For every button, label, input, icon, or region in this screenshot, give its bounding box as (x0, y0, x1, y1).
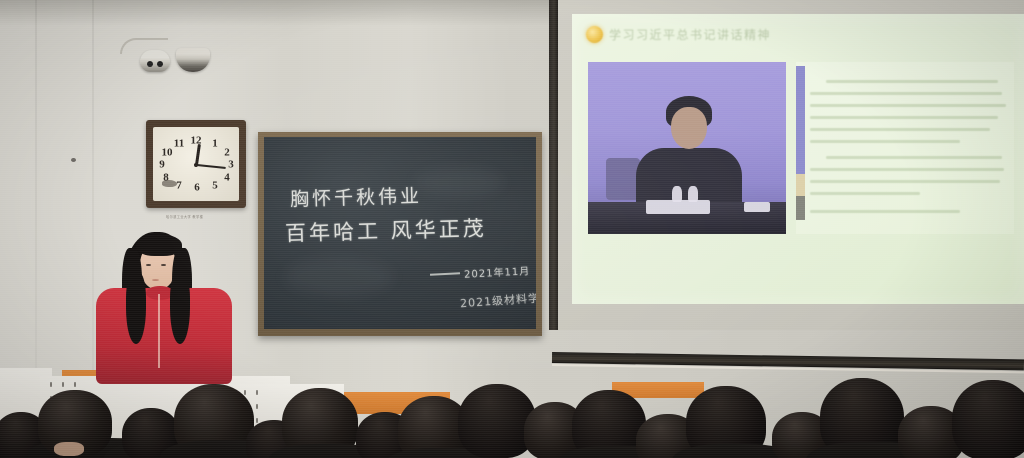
wall-mark (71, 158, 76, 162)
presenter-student (96, 232, 236, 382)
projected-slide: 学习习近平总书记讲话精神 (572, 14, 1024, 304)
presenter-hair-front-left (126, 272, 146, 344)
presenter-eye-left (146, 264, 151, 266)
clock-numeral: 3 (228, 160, 234, 171)
presenter-zipper (158, 294, 160, 368)
paragraph-line (810, 92, 1002, 95)
blackboard-line-1: 胸怀千秋伟业 (290, 181, 423, 211)
audience-head (952, 380, 1024, 458)
blackboard-surface: 胸怀千秋伟业 百年哈工 风华正茂 2021年11月 2021级材料学院 (264, 137, 536, 329)
dome-camera-ir-icon (140, 50, 170, 72)
panel-accent-tan (796, 174, 805, 196)
clock-center-pin (194, 163, 198, 167)
chalk-smudge (284, 257, 394, 297)
presenter-mouth (152, 279, 159, 281)
clock-numeral: 2 (224, 148, 230, 159)
presenter-hair-front-right (170, 272, 190, 344)
blackboard: 胸怀千秋伟业 百年哈工 风华正茂 2021年11月 2021级材料学院 (258, 132, 542, 336)
video-chair-back (606, 158, 640, 200)
dome-camera-icon (176, 48, 210, 72)
clock-caption: 哈尔滨工业大学 教学楼 (166, 214, 203, 219)
clock-brand-mark (162, 180, 177, 187)
paragraph-line (810, 104, 1006, 107)
blackboard-signature: 2021级材料学院 (460, 289, 536, 311)
blackboard-line-2: 百年哈工 风华正茂 (285, 212, 487, 247)
video-microphone (672, 186, 682, 202)
slide-title: 学习习近平总书记讲话精神 (609, 26, 771, 43)
camera-lens-left-icon (147, 61, 153, 67)
chalk-smudge (414, 167, 504, 197)
paragraph-line (826, 156, 1002, 159)
clock-numeral: 10 (162, 148, 173, 159)
paragraph-line (810, 168, 1004, 171)
paragraph-line (810, 180, 1000, 183)
clock-numeral: 9 (159, 160, 165, 171)
clock-numeral: 7 (176, 181, 182, 192)
panel-accent-blue (796, 66, 805, 174)
paragraph-line (810, 140, 960, 143)
security-camera-cluster (118, 36, 228, 76)
video-microphone (688, 186, 698, 202)
blackboard-dash (430, 272, 460, 275)
video-papers-right (744, 202, 770, 212)
paragraph-line (810, 128, 990, 131)
audience-seating (0, 368, 1024, 458)
panel-accent-grey (796, 196, 805, 220)
paragraph-line (826, 80, 998, 83)
paragraph-line (810, 210, 960, 213)
clock-hour-hand (195, 144, 200, 165)
lecture-hall-scene: 12 1 2 3 4 5 6 7 8 9 10 11 哈尔滨工业大学 教学楼 胸… (0, 0, 1024, 458)
clock-numeral: 1 (212, 139, 218, 150)
video-speaker-face (671, 107, 707, 149)
clock-numeral: 5 (212, 181, 218, 192)
paragraph-line (810, 116, 998, 119)
slide-body (572, 54, 1024, 304)
wall-post-divider (549, 0, 558, 330)
clock-numeral: 11 (174, 139, 184, 150)
camera-lens-right-icon (157, 61, 163, 67)
clock-face: 12 1 2 3 4 5 6 7 8 9 10 11 (153, 127, 239, 201)
blackboard-date: 2021年11月 (464, 262, 531, 280)
clock-numeral: 6 (194, 183, 200, 194)
clock-numeral: 4 (224, 173, 230, 184)
video-still[interactable] (588, 62, 786, 234)
paragraph-line (810, 192, 920, 195)
presenter-eye-right (161, 264, 166, 266)
slide-text-panel (796, 62, 1014, 234)
slide-header: 学习习近平总书记讲话精神 (572, 14, 1024, 54)
wall-clock: 12 1 2 3 4 5 6 7 8 9 10 11 (146, 120, 246, 208)
video-papers (646, 200, 710, 214)
sun-logo-icon (586, 26, 603, 43)
clock-minute-hand (196, 164, 225, 169)
audience-neck (54, 442, 84, 456)
